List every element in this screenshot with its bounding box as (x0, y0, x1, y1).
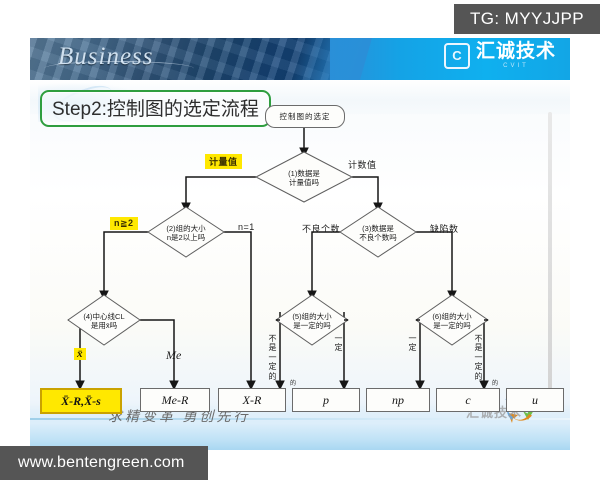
screenshot-root: Business C 汇诚技术 CVIT Step2:控制图的选定流程 求精变革… (0, 0, 600, 480)
slide-canvas: Business C 汇诚技术 CVIT Step2:控制图的选定流程 求精变革… (30, 38, 570, 450)
vertical-scrollbar[interactable] (548, 112, 552, 412)
logo-chinese-name: 汇诚技术 (476, 42, 556, 61)
slide-slogan: 求精变革 勇创先行 (108, 406, 251, 426)
logo-english-name: CVIT (503, 63, 529, 69)
watermark-logo: 汇诚技术 (462, 394, 548, 426)
logo-c-icon: C (444, 43, 470, 69)
logo-textblock: 汇诚技术 CVIT (476, 42, 556, 69)
slide-banner: Business C 汇诚技术 CVIT (30, 38, 570, 80)
banner-word-text: Business (58, 43, 154, 71)
url-bar: www.bentengreen.com (0, 446, 208, 480)
brand-logo: C 汇诚技术 CVIT (444, 42, 556, 69)
tg-badge: TG: MYYJJPP (454, 4, 600, 34)
page-title: Step2:控制图的选定流程 (40, 90, 271, 127)
watermark-text: 汇诚技术 (466, 402, 522, 421)
